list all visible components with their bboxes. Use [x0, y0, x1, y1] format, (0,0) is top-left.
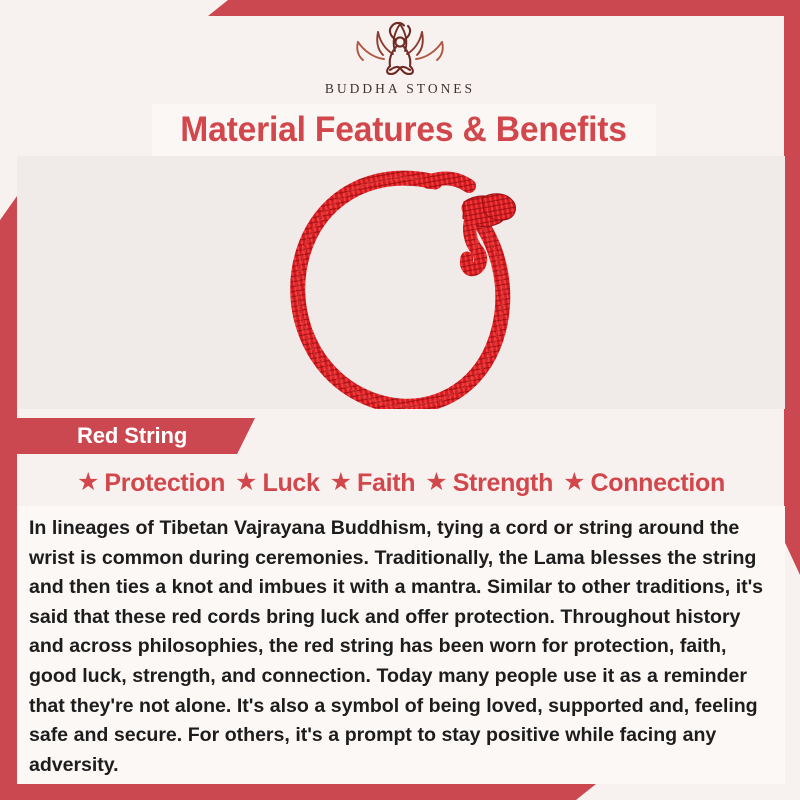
star-icon: ★ [77, 470, 99, 495]
product-name-label: Red String [17, 423, 187, 449]
benefit-label: Faith [357, 469, 415, 498]
description-body: In lineages of Tibetan Vajrayana Buddhis… [29, 514, 769, 780]
star-icon: ★ [330, 470, 352, 495]
product-image-area [17, 156, 785, 409]
star-icon: ★ [235, 470, 257, 495]
benefit-item-connection: ★ Connection [563, 469, 725, 498]
lotus-meditation-figure-icon [334, 18, 466, 80]
page-title: Material Features & Benefits [181, 110, 628, 150]
benefit-item-faith: ★ Faith [330, 469, 416, 498]
benefits-list: ★ Protection ★ Luck ★ Faith ★ Strength ★… [17, 462, 785, 504]
description-panel: In lineages of Tibetan Vajrayana Buddhis… [17, 506, 785, 784]
benefit-item-strength: ★ Strength [425, 469, 553, 498]
star-icon: ★ [563, 470, 585, 495]
decorative-top-red-bar [0, 0, 800, 16]
benefit-label: Connection [590, 469, 725, 498]
benefit-item-protection: ★ Protection [77, 469, 225, 498]
benefit-label: Protection [104, 469, 225, 498]
star-icon: ★ [425, 470, 447, 495]
brand-header: BUDDHA STONES [0, 16, 800, 104]
product-name-banner: Red String [17, 418, 255, 454]
benefit-label: Strength [453, 469, 553, 498]
brand-wordmark: BUDDHA STONES [325, 81, 475, 97]
benefit-label: Luck [262, 469, 319, 498]
decorative-bottom-red-bar [0, 784, 800, 800]
infographic-page: BUDDHA STONES Material Features & Benefi… [0, 0, 800, 800]
page-title-band: Material Features & Benefits [152, 104, 656, 156]
decorative-left-red-strip [0, 196, 17, 800]
benefit-item-luck: ★ Luck [235, 469, 320, 498]
